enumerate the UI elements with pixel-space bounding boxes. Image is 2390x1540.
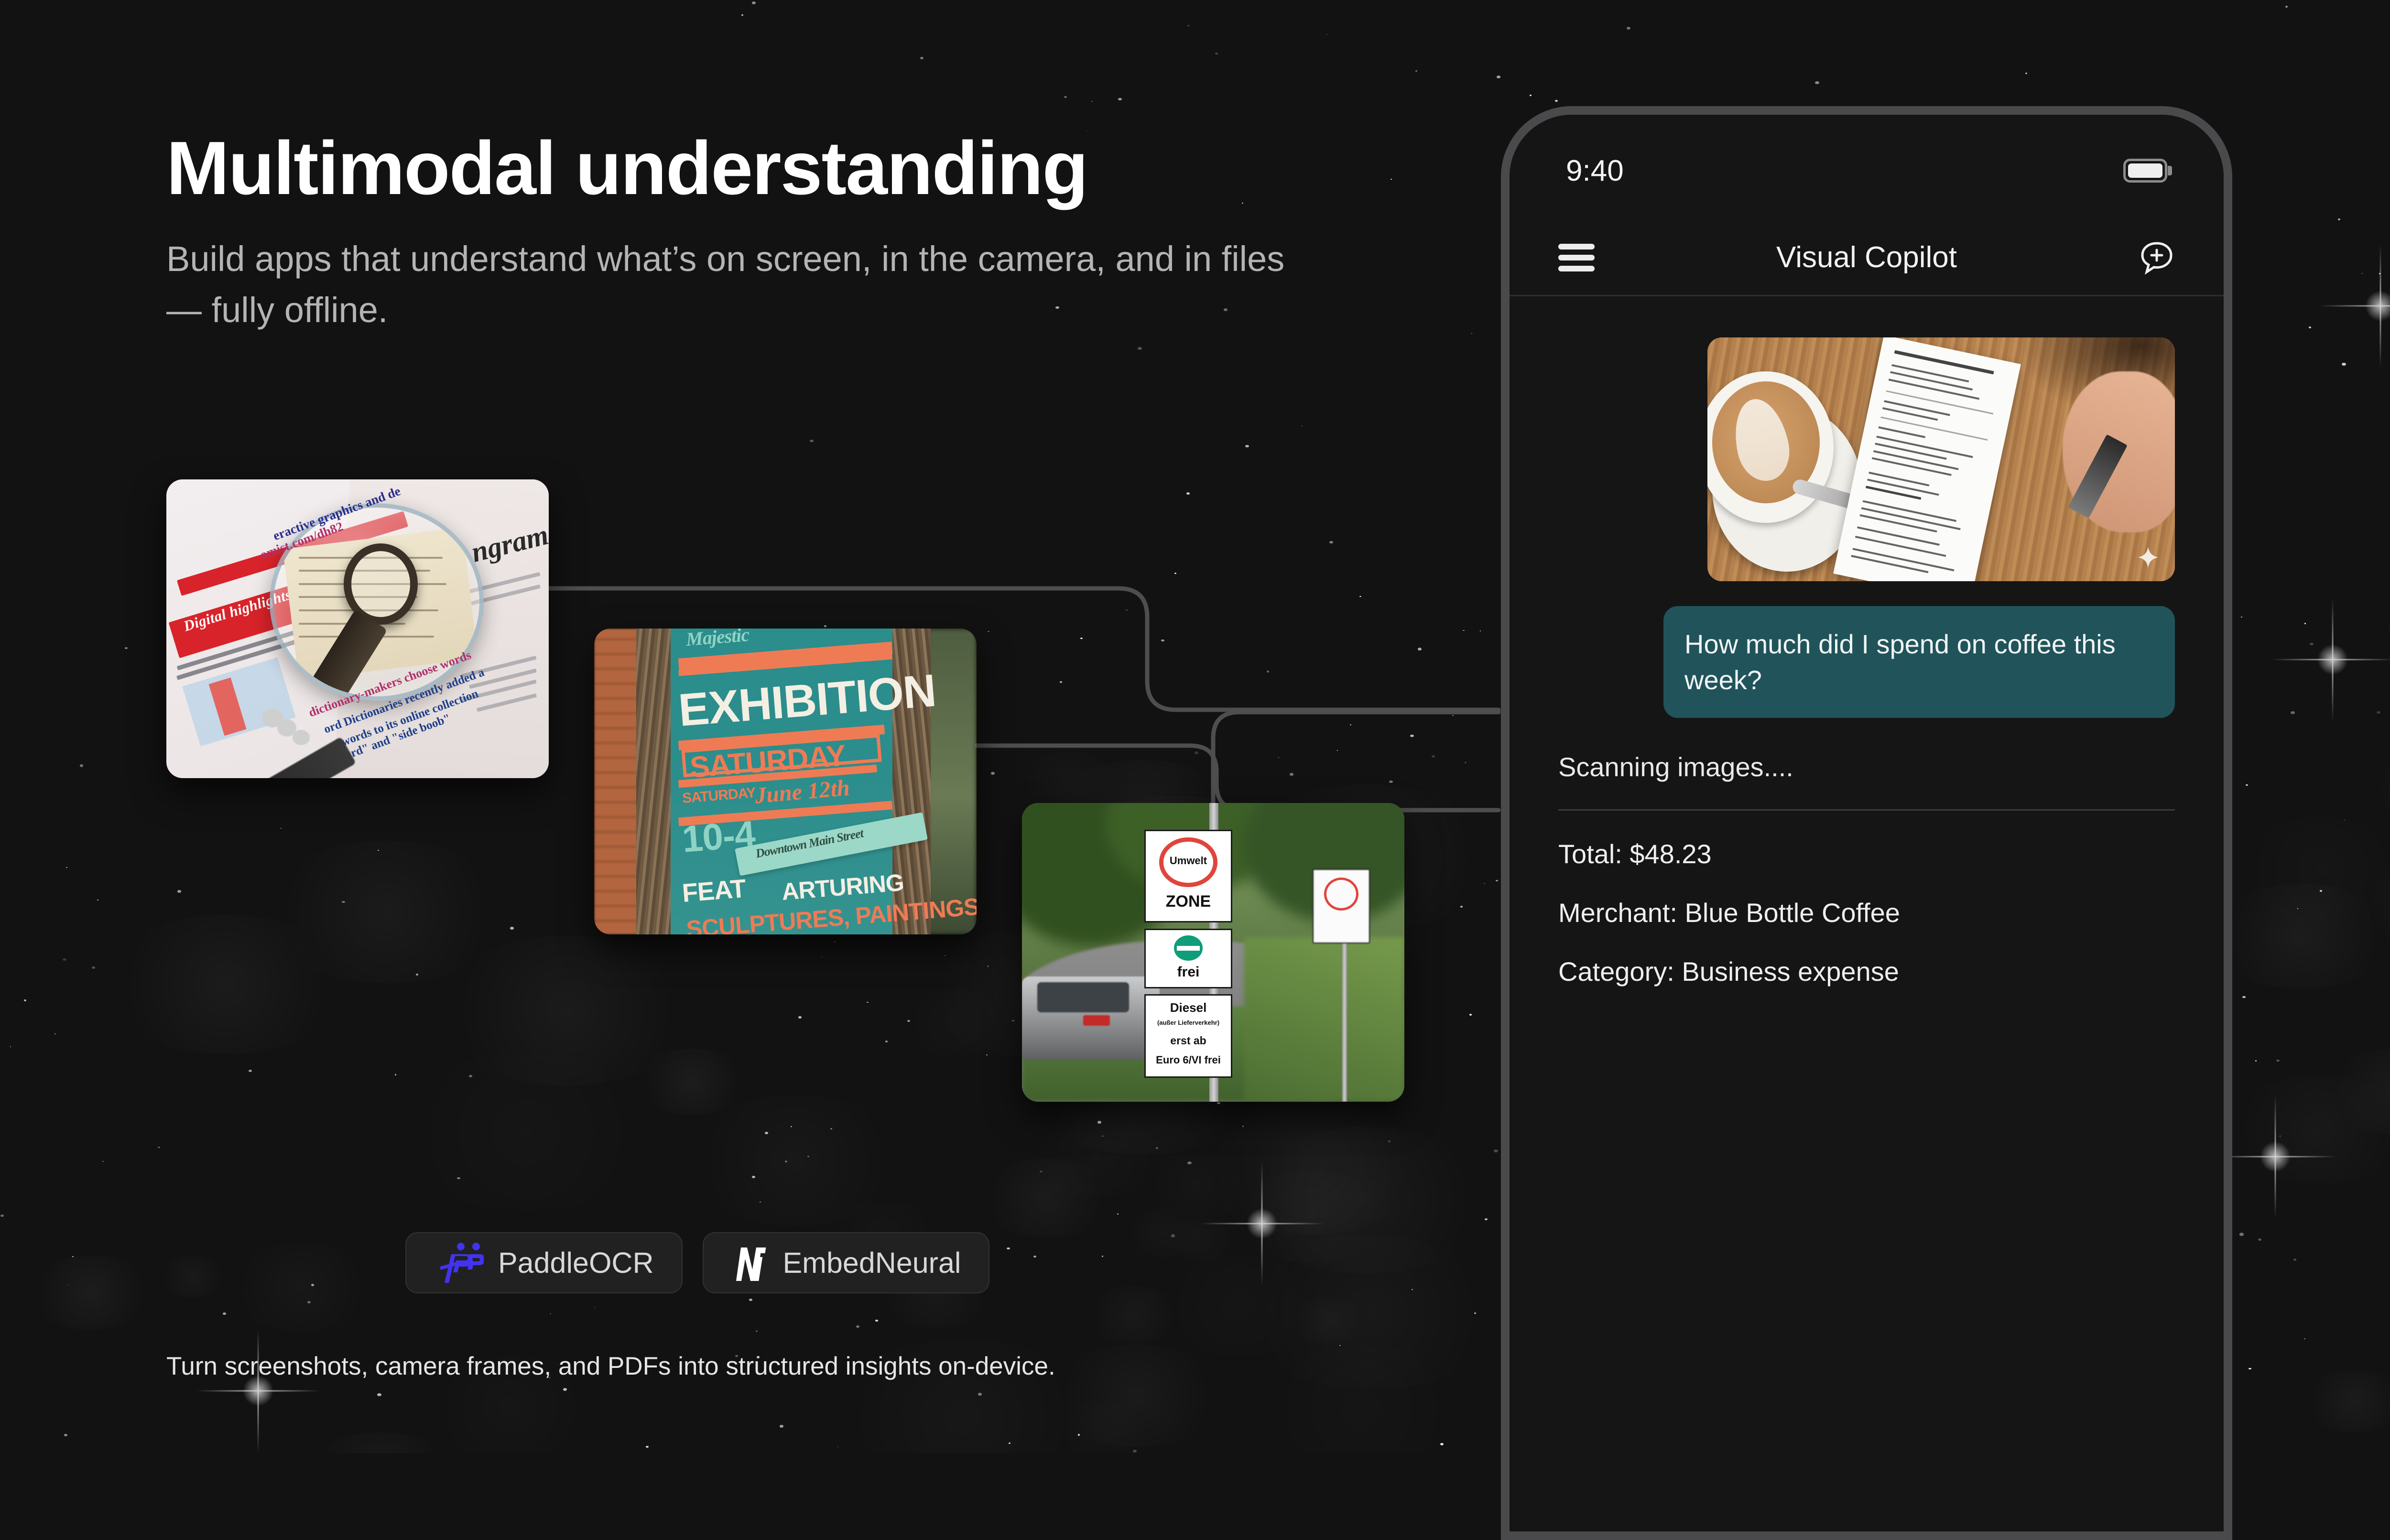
grass-right [1244, 937, 1404, 1102]
battery-icon [2123, 159, 2167, 183]
page-title: Multimodal understanding [166, 129, 1390, 208]
assistant-status-line: Scanning images.... [1558, 751, 2175, 782]
poster-feat: FEAT [681, 874, 747, 908]
embedneural-logo-icon [731, 1243, 769, 1283]
app-title: Visual Copilot [1595, 240, 2139, 274]
diesel-line-3: erst ab [1146, 1034, 1231, 1047]
frei-label: frei [1146, 964, 1231, 980]
status-time: 9:40 [1566, 154, 1624, 188]
diesel-line-4: Euro 6/VI frei [1146, 1054, 1231, 1066]
frei-sign: frei [1144, 929, 1232, 988]
phone-screen: 9:40 Visual Copilot [1510, 115, 2224, 1531]
newspaper-magnifier-card[interactable]: Digital highlights ngram eractive graphi… [166, 479, 549, 778]
status-bar: 9:40 [1510, 144, 2224, 197]
umwelt-zone-sign: Umwelt ZONE [1144, 830, 1232, 922]
badge-label-paddleocr: PaddleOCR [498, 1246, 654, 1280]
phone-mockup: 9:40 Visual Copilot [1501, 106, 2232, 1540]
diesel-sign: Diesel (außer Lieferverkehr) erst ab Eur… [1144, 994, 1232, 1078]
paddleocr-logo-icon [434, 1242, 484, 1284]
app-bar: Visual Copilot [1510, 220, 2224, 296]
result-total: Total: $48.23 [1558, 838, 2175, 869]
result-merchant: Merchant: Blue Bottle Coffee [1558, 897, 2175, 928]
footnote-text: Turn screenshots, camera frames, and PDF… [166, 1352, 1055, 1381]
hero-text-block: Multimodal understanding Build apps that… [166, 129, 1390, 336]
user-message-bubble: How much did I spend on coffee this week… [1663, 606, 2175, 718]
hamburger-menu-icon[interactable] [1558, 244, 1595, 271]
new-chat-bubble-plus-icon[interactable] [2139, 239, 2175, 276]
badge-label-embedneural: EmbedNeural [783, 1246, 961, 1280]
chat-thread: How much did I spend on coffee this week… [1510, 306, 2224, 987]
page-subtitle: Build apps that understand what’s on scr… [166, 233, 1309, 336]
result-category: Category: Business expense [1558, 956, 2175, 987]
diesel-line-2: (außer Lieferverkehr) [1146, 1019, 1231, 1026]
umwelt-label: Umwelt [1146, 855, 1231, 867]
zone-label: ZONE [1146, 892, 1231, 911]
badge-embedneural[interactable]: EmbedNeural [703, 1232, 990, 1293]
tech-badges-row: PaddleOCR EmbedNeural [405, 1232, 989, 1293]
receipt-photo-attachment[interactable] [1707, 337, 2175, 581]
sparkle-icon [2137, 546, 2160, 569]
diesel-line-1: Diesel [1146, 1000, 1231, 1015]
results-divider [1558, 809, 2175, 811]
badge-paddleocr[interactable]: PaddleOCR [405, 1232, 683, 1293]
exhibition-poster-card[interactable]: Majestic EXHIBITION SATURDAY SATURDAY Ju… [594, 629, 977, 934]
umwelt-zone-sign-card[interactable]: Umwelt ZONE frei Diesel (außer Lieferver… [1022, 803, 1404, 1102]
